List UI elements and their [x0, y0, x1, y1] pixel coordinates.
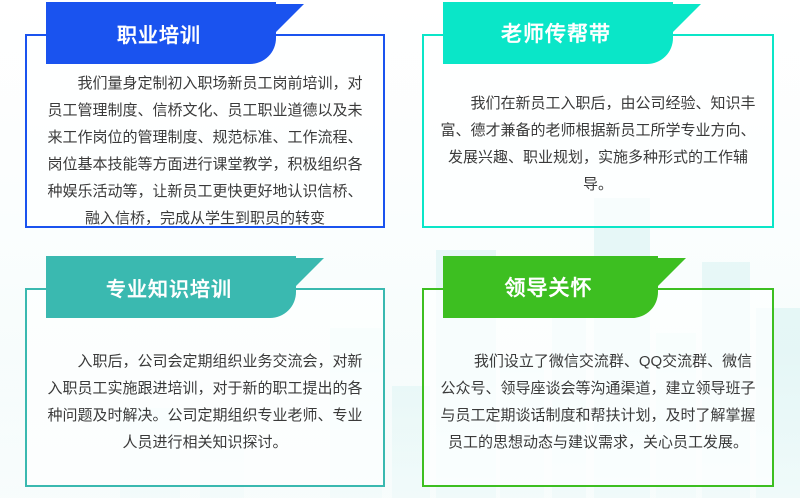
card-body-text: 我们设立了微信交流群、QQ交流群、微信公众号、领导座谈会等沟通渠道，建立领导班子… — [440, 348, 756, 456]
ribbon-fold-triangle-icon — [276, 4, 304, 32]
card-teacher-mentoring[interactable]: 老师传帮带 我们在新员工入职后，由公司经验、知识丰富、德才兼备的老师根据新员工所… — [422, 2, 774, 228]
card-grid: 职业培训 我们量身定制初入职场新员工岗前培训，对员工管理制度、信桥文化、员工职业… — [0, 0, 800, 498]
card-title: 专业知识培训 — [46, 256, 296, 318]
card-body-text: 入职后，公司会定期组织业务交流会，对新入职员工实施跟进培训，对于新的职工提出的各… — [43, 348, 367, 456]
card-title: 领导关怀 — [443, 256, 658, 318]
card-leadership-care[interactable]: 领导关怀 我们设立了微信交流群、QQ交流群、微信公众号、领导座谈会等沟通渠道，建… — [422, 256, 774, 487]
ribbon-fold-triangle-icon — [296, 258, 324, 286]
card-title: 职业培训 — [46, 2, 276, 64]
card-title: 老师传帮带 — [443, 2, 673, 64]
card-body-text: 我们在新员工入职后，由公司经验、知识丰富、德才兼备的老师根据新员工所学专业方向、… — [440, 90, 756, 198]
card-title-ribbon: 职业培训 — [46, 2, 276, 64]
card-vocational-training[interactable]: 职业培训 我们量身定制初入职场新员工岗前培训，对员工管理制度、信桥文化、员工职业… — [25, 2, 385, 228]
card-title-ribbon: 领导关怀 — [443, 256, 658, 318]
ribbon-fold-triangle-icon — [658, 258, 686, 286]
card-professional-training[interactable]: 专业知识培训 入职后，公司会定期组织业务交流会，对新入职员工实施跟进培训，对于新… — [25, 256, 385, 487]
card-title-ribbon: 老师传帮带 — [443, 2, 673, 64]
card-body-text: 我们量身定制初入职场新员工岗前培训，对员工管理制度、信桥文化、员工职业道德以及未… — [43, 70, 367, 232]
ribbon-fold-triangle-icon — [673, 4, 701, 32]
card-title-ribbon: 专业知识培训 — [46, 256, 296, 318]
